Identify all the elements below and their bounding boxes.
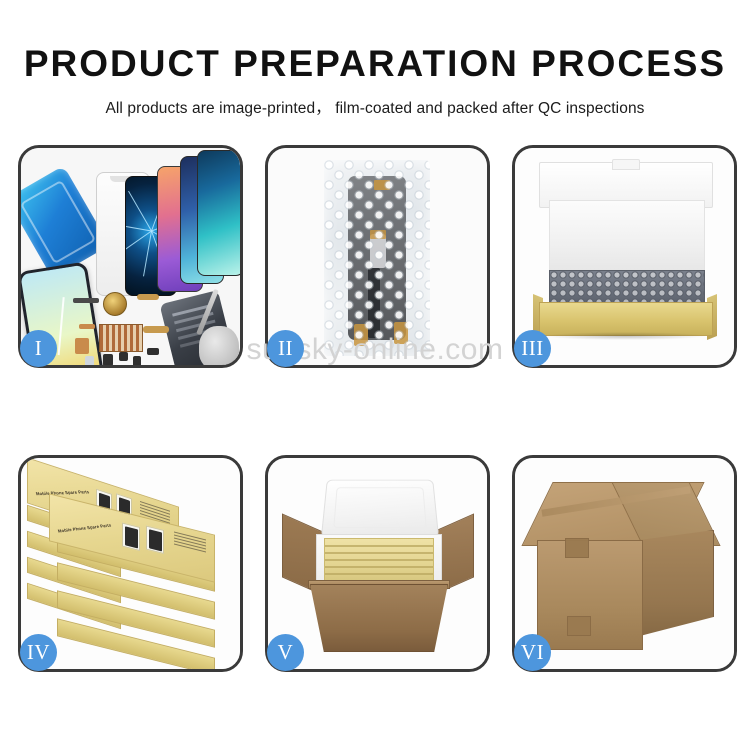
flex-cable-3: [79, 324, 95, 329]
speaker-coil-component: [103, 292, 127, 316]
sim-tray-component: [85, 356, 94, 365]
retail-box-screen-image-front-1: [122, 523, 140, 551]
step-image-6: [515, 458, 734, 669]
step-image-1: [21, 148, 240, 365]
process-step-grid: Mobile Phone Spare Parts Mobile Phone Sp…: [0, 0, 750, 750]
gradient-phone-aqua: [197, 150, 240, 276]
bubble-wrap-bag: [324, 160, 430, 356]
box-shadow: [545, 332, 705, 340]
step-badge-6: VI: [514, 634, 551, 671]
step-badge-5: V: [267, 634, 304, 671]
bracket-component: [75, 338, 89, 354]
carton-tape-lower: [567, 616, 591, 636]
step-badge-4: IV: [20, 634, 57, 671]
retail-box-screen-image-front-2: [146, 525, 164, 553]
flex-cable-2: [143, 326, 169, 333]
carton-body: [310, 584, 448, 652]
step-image-4: Mobile Phone Spare Parts Mobile Phone Sp…: [21, 458, 240, 669]
step-panel-3: [512, 145, 737, 368]
step-badge-3: III: [514, 330, 551, 367]
connector-pad-component: [99, 324, 143, 352]
flex-cable-1: [137, 294, 159, 300]
packed-yellow-boxes: [324, 538, 434, 584]
step-image-5: [268, 458, 487, 669]
styrofoam-lid: [321, 480, 439, 538]
step-panel-2: [265, 145, 490, 368]
bubble-texture-overlay: [324, 160, 430, 356]
glove-hand: [199, 326, 239, 365]
retail-box-brand-front: Mobile Phone Spare Parts: [57, 522, 112, 533]
carton-tape-upper: [565, 538, 589, 558]
kraft-box-front: [539, 302, 713, 336]
step-image-3: [515, 148, 734, 365]
ic-chip-2: [119, 352, 128, 361]
step-panel-1: [18, 145, 243, 368]
ic-chip-3: [133, 356, 141, 365]
product-preparation-page: PRODUCT PREPARATION PROCESS All products…: [0, 0, 750, 750]
step-badge-2: II: [267, 330, 304, 367]
step-image-2: [268, 148, 487, 365]
grey-bubble-wrap-layer: [549, 270, 705, 306]
ic-chip-1: [103, 354, 113, 365]
camera-module: [147, 348, 159, 355]
earpiece-component: [73, 298, 99, 303]
step-badge-1: I: [20, 330, 57, 367]
retail-box-brand-rear: Mobile Phone Spare Parts: [35, 489, 90, 496]
white-foam-sheet: [549, 200, 705, 274]
retail-box-features-front: [174, 531, 206, 554]
